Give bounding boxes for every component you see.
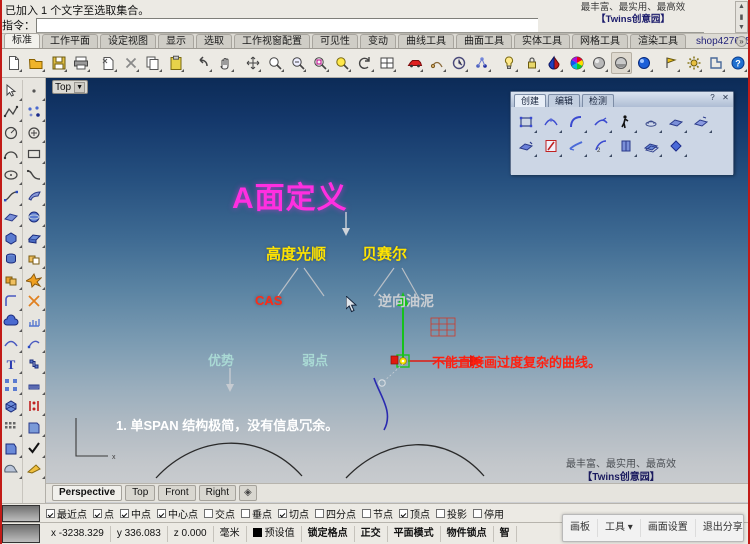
status-z-label: z — [174, 528, 179, 539]
array-icon[interactable] — [1, 374, 22, 395]
status-units: 毫米 — [214, 526, 247, 542]
move-icon[interactable] — [242, 52, 263, 74]
ellipse-icon[interactable] — [1, 164, 22, 185]
checkbox-icon[interactable] — [436, 509, 445, 518]
pan-hand-icon[interactable] — [215, 52, 236, 74]
status-x-label: x — [51, 528, 56, 539]
flyout-corner-icon[interactable] — [303, 69, 306, 72]
annotation-note1: 1. 单SPAN 结构极简，没有信息冗余。 — [116, 415, 338, 434]
osnap-label: 中心点 — [168, 506, 198, 521]
toolbar-tab-0[interactable]: 标准 — [4, 33, 40, 48]
layer-icon[interactable] — [1, 437, 22, 458]
status-x-value: -3238.329 — [59, 528, 104, 539]
mouse-cursor-icon — [346, 296, 358, 314]
flyout-corner-icon[interactable] — [209, 69, 212, 72]
flyout-corner-icon[interactable] — [659, 130, 662, 133]
flyout-corner-icon[interactable] — [582, 69, 585, 72]
share-overlay-item-3[interactable]: 退出分享 — [696, 519, 750, 537]
svg-text:x: x — [112, 454, 116, 461]
osnap-label: 顶点 — [410, 506, 430, 521]
annotation-smooth: 高度光顺 — [266, 243, 326, 264]
render-blue-icon[interactable] — [633, 52, 654, 74]
surface-edge-curves-icon[interactable] — [538, 110, 563, 134]
annotation-advantage: 优势 — [208, 350, 234, 369]
cut-icon[interactable] — [98, 52, 119, 74]
points-on-icon[interactable] — [471, 52, 492, 74]
osnap-4[interactable]: 交点 — [204, 506, 235, 521]
osnap-3[interactable]: 中心点 — [157, 506, 198, 521]
command-area: 已加入 1 个文字至选取集合。 指令： 最丰富、最实用、最高效 【Twins创意… — [0, 0, 750, 34]
osnap-8[interactable]: 节点 — [362, 506, 393, 521]
annotation-cas: CAS — [255, 293, 282, 308]
osnap-label: 节点 — [373, 506, 393, 521]
svg-text:T: T — [7, 357, 16, 372]
main-toolbar: ? — [0, 49, 750, 78]
flyout-corner-icon[interactable] — [488, 69, 491, 72]
checkbox-icon[interactable] — [93, 509, 102, 518]
viewport-layout-icon[interactable] — [377, 52, 398, 74]
curve-edit-icon[interactable] — [24, 332, 45, 353]
annotation-warning: 不能直接画过度复杂的曲线。 — [432, 352, 601, 371]
checkbox-icon[interactable] — [278, 509, 287, 518]
fillet-icon[interactable] — [1, 290, 22, 311]
toolbar-tab-3[interactable]: 显示 — [158, 34, 194, 48]
screen-share-overlay-bar[interactable]: 画板工具 ▾画面设置退出分享 — [562, 514, 744, 542]
viewport-tab-front[interactable]: Front — [158, 485, 195, 501]
left-toolbar-column-a: T — [0, 80, 22, 503]
zoom-window-icon[interactable] — [264, 52, 285, 74]
layer-color-swatch[interactable] — [253, 528, 262, 537]
zoom-selected-icon[interactable] — [309, 52, 330, 74]
status-toggle-2[interactable]: 平面模式 — [388, 526, 441, 542]
status-x-coordinate: x -3238.329 — [45, 526, 111, 542]
sweep2-icon[interactable]: 2 — [588, 134, 613, 158]
flyout-corner-icon[interactable] — [584, 154, 587, 157]
mesh-icon[interactable] — [1, 395, 22, 416]
flyout-corner-icon[interactable] — [231, 69, 234, 72]
help-icon[interactable]: ? — [728, 52, 749, 74]
status-toggle-0[interactable]: 锁定格点 — [302, 526, 355, 542]
planar-surface-icon[interactable] — [663, 110, 688, 134]
toolbar-tab-8[interactable]: 曲线工具 — [398, 34, 454, 48]
share-border-left — [0, 0, 2, 544]
status-layer[interactable]: 预设值 — [247, 526, 302, 542]
osnap-2[interactable]: 中点 — [120, 506, 151, 521]
delete-icon[interactable] — [120, 52, 141, 74]
toolbar-tab-2[interactable]: 设定视图 — [100, 34, 156, 48]
svg-text:?: ? — [736, 59, 742, 69]
cloud-icon[interactable] — [1, 311, 22, 332]
annotation-bezier: 贝赛尔 — [362, 243, 407, 264]
left-toolbar-column-b — [22, 80, 45, 503]
undo-icon[interactable] — [192, 52, 213, 74]
curve-tools-icon[interactable] — [1, 332, 22, 353]
color-drop-icon[interactable] — [543, 52, 564, 74]
circle-center-icon[interactable] — [24, 122, 45, 143]
rotate-view-icon[interactable] — [354, 52, 375, 74]
flyout-corner-icon[interactable] — [609, 130, 612, 133]
floating-panel-window-buttons: ? ✕ — [705, 93, 731, 104]
osnap-label: 最近点 — [57, 506, 87, 521]
share-thumbnail-preview — [2, 505, 40, 522]
color-wheel-icon[interactable] — [566, 52, 587, 74]
box-solid-icon[interactable] — [1, 227, 22, 248]
status-y-coordinate: y 336.083 — [111, 526, 168, 542]
flyout-corner-icon[interactable] — [634, 154, 637, 157]
flyout-corner-icon[interactable] — [87, 69, 90, 72]
status-toggle-3[interactable]: 物件锁点 — [441, 526, 494, 542]
flyout-corner-icon[interactable] — [722, 69, 725, 72]
float-panel-tab-1[interactable]: 编辑 — [548, 94, 580, 107]
loft-book-icon[interactable] — [613, 134, 638, 158]
offset-surface-icon[interactable] — [638, 134, 663, 158]
light-bulb-icon[interactable] — [498, 52, 519, 74]
layout-icon[interactable] — [705, 52, 726, 74]
scroll-thumb-icon[interactable]: ▮ — [736, 13, 747, 22]
help-icon[interactable]: ? — [707, 93, 718, 104]
viewport-tab-perspective[interactable]: Perspective — [52, 485, 122, 501]
toolbar-tab-11[interactable]: 网格工具 — [572, 34, 628, 48]
render-material-icon[interactable] — [1, 458, 22, 479]
flyout-corner-icon[interactable] — [634, 130, 637, 133]
osnap-label: 点 — [104, 506, 114, 521]
osnap-label: 四分点 — [326, 506, 356, 521]
scroll-down-icon[interactable]: ▼ — [736, 23, 747, 32]
toolbar-tab-10[interactable]: 实体工具 — [514, 34, 570, 48]
status-toggle-4[interactable]: 智 — [494, 526, 517, 542]
osnap-label: 垂点 — [252, 506, 272, 521]
osnap-label: 停用 — [484, 506, 504, 521]
viewport-name-label[interactable]: Top ▼ — [52, 80, 88, 94]
surface-tools-floating-panel[interactable]: 创建编辑检测 ? ✕ 2 — [510, 91, 734, 175]
floating-panel-titlebar[interactable]: 创建编辑检测 ? ✕ — [511, 92, 733, 107]
status-toggle-1[interactable]: 正交 — [355, 526, 388, 542]
history-icon[interactable] — [449, 52, 470, 74]
command-prompt-label: 指令： — [2, 17, 36, 33]
arc-icon[interactable] — [1, 143, 22, 164]
flyout-corner-icon[interactable] — [42, 69, 45, 72]
control-point-curve-icon[interactable] — [1, 185, 22, 206]
zoom-dynamic-icon[interactable] — [332, 52, 353, 74]
gear-icon[interactable] — [683, 52, 704, 74]
new-file-icon[interactable] — [3, 52, 24, 74]
flag-icon[interactable] — [660, 52, 681, 74]
flyout-corner-icon[interactable] — [605, 69, 608, 72]
analyze-points-icon[interactable] — [24, 311, 45, 332]
checkbox-icon[interactable] — [315, 509, 324, 518]
command-history: 已加入 1 个文字至选取集合。 — [2, 1, 702, 16]
add-viewport-button[interactable]: ◈ — [239, 485, 257, 501]
save-file-icon[interactable] — [48, 52, 69, 74]
viewport-tab-right[interactable]: Right — [199, 485, 236, 501]
checkbox-icon[interactable] — [241, 509, 250, 518]
surface-corner-points-icon[interactable] — [513, 110, 538, 134]
circle-icon[interactable] — [1, 122, 22, 143]
share-overlay-item-0[interactable]: 画板 — [563, 519, 598, 537]
share-overlay-item-1[interactable]: 工具 ▾ — [598, 519, 641, 537]
scroll-up-icon[interactable]: ▲ — [736, 2, 747, 11]
rhino-application-window: 已加入 1 个文字至选取集合。 指令： 最丰富、最实用、最高效 【Twins创意… — [0, 0, 750, 544]
flyout-corner-icon[interactable] — [699, 69, 702, 72]
trim-surface-icon[interactable] — [538, 134, 563, 158]
car-render-icon[interactable] — [404, 52, 425, 74]
flyout-corner-icon[interactable] — [42, 476, 45, 479]
flyout-corner-icon[interactable] — [744, 69, 747, 72]
toolbar-tab-12[interactable]: 渲染工具 — [630, 34, 686, 48]
boolean-difference-icon[interactable] — [24, 248, 45, 269]
zoom-extents-icon[interactable] — [287, 52, 308, 74]
toolbar-tab-6[interactable]: 可见性 — [312, 34, 358, 48]
toolbar-tab-1[interactable]: 工作平面 — [42, 34, 98, 48]
surface-from-curves-icon[interactable] — [1, 206, 22, 227]
osnap-label: 交点 — [215, 506, 235, 521]
dimension-icon[interactable] — [1, 416, 22, 437]
toolbar-tab-4[interactable]: 选取 — [196, 34, 232, 48]
osnap-5[interactable]: 垂点 — [241, 506, 272, 521]
shade-gray-icon[interactable] — [588, 52, 609, 74]
osnap-label: 中点 — [131, 506, 151, 521]
checkbox-icon[interactable] — [473, 509, 482, 518]
checkbox-icon[interactable] — [204, 509, 213, 518]
blend-surface-icon[interactable] — [563, 134, 588, 158]
split-icon[interactable] — [24, 290, 45, 311]
status-layer-name: 预设值 — [265, 528, 295, 539]
float-panel-tab-0[interactable]: 创建 — [514, 94, 546, 107]
close-icon[interactable]: ✕ — [720, 93, 731, 104]
viewport-name-text: Top — [55, 82, 71, 93]
explode-icon[interactable] — [24, 269, 45, 290]
osnap-0[interactable]: 最近点 — [46, 506, 87, 521]
command-prompt-row: 指令： — [2, 17, 704, 33]
osnap-1[interactable]: 点 — [93, 506, 114, 521]
flyout-corner-icon[interactable] — [609, 154, 612, 157]
annotate-icon[interactable] — [24, 416, 45, 437]
flyout-corner-icon[interactable] — [465, 69, 468, 72]
osnap-10[interactable]: 投影 — [436, 506, 467, 521]
sweep1-icon[interactable] — [588, 110, 613, 134]
open-file-icon[interactable] — [25, 52, 46, 74]
flyout-corner-icon[interactable] — [326, 69, 329, 72]
paint-icon[interactable] — [24, 458, 45, 479]
flyout-corner-icon[interactable] — [181, 69, 184, 72]
checkbox-icon[interactable] — [399, 509, 408, 518]
command-input[interactable] — [36, 18, 704, 33]
float-panel-tab-2[interactable]: 检测 — [582, 94, 614, 107]
copy-icon[interactable] — [142, 52, 163, 74]
toolbar-tab-strip: 标准工作平面设定视图显示选取工作视窗配置可见性变动曲线工具曲面工具实体工具网格工… — [0, 34, 750, 49]
polyline-icon[interactable] — [1, 101, 22, 122]
select-arrow-icon[interactable] — [1, 80, 22, 101]
flyout-corner-icon[interactable] — [559, 130, 562, 133]
flyout-corner-icon[interactable] — [348, 69, 351, 72]
osnap-label: 切点 — [289, 506, 309, 521]
flyout-corner-icon[interactable] — [159, 69, 162, 72]
flyout-corner-icon[interactable] — [537, 69, 540, 72]
flyout-corner-icon[interactable] — [281, 69, 284, 72]
viewport-tab-bar: PerspectiveTopFrontRight◈ — [46, 483, 750, 502]
checkbox-icon[interactable] — [120, 509, 129, 518]
osnap-label: 投影 — [447, 506, 467, 521]
flyout-corner-icon[interactable] — [258, 69, 261, 72]
shade-gray2-icon[interactable] — [611, 52, 632, 74]
flyout-corner-icon[interactable] — [114, 69, 117, 72]
flyout-corner-icon[interactable] — [560, 69, 563, 72]
flyout-corner-icon[interactable] — [650, 69, 653, 72]
check-icon[interactable] — [24, 437, 45, 458]
status-z-value: 0.000 — [182, 528, 207, 539]
checkbox-icon[interactable] — [157, 509, 166, 518]
flyout-corner-icon[interactable] — [420, 69, 423, 72]
annotation-reverse-clay: 逆向油泥 — [378, 291, 434, 311]
flyout-corner-icon[interactable] — [534, 130, 537, 133]
checkbox-icon[interactable] — [46, 509, 55, 518]
flyout-corner-icon[interactable] — [64, 69, 67, 72]
analyze-icon[interactable] — [426, 52, 447, 74]
flyout-corner-icon[interactable] — [393, 69, 396, 72]
cylinder-icon[interactable] — [1, 248, 22, 269]
flyout-corner-icon[interactable] — [677, 69, 680, 72]
boolean-union-icon[interactable] — [1, 269, 22, 290]
osnap-9[interactable]: 顶点 — [399, 506, 430, 521]
scale-icon[interactable] — [24, 374, 45, 395]
floating-panel-body: 2 — [511, 107, 733, 175]
osnap-11[interactable]: 停用 — [473, 506, 504, 521]
toolbar-tab-7[interactable]: 变动 — [360, 34, 396, 48]
status-z-coordinate: z 0.000 — [168, 526, 214, 542]
blend-icon[interactable] — [24, 395, 45, 416]
point-cloud-icon[interactable] — [24, 101, 45, 122]
share-overlay-item-2[interactable]: 画面设置 — [641, 519, 696, 537]
status-thumbnail-preview — [2, 524, 40, 543]
flyout-corner-icon[interactable] — [443, 69, 446, 72]
left-toolbar: T — [0, 78, 46, 503]
flyout-corner-icon[interactable] — [684, 154, 687, 157]
patch-surface-icon[interactable] — [688, 110, 713, 134]
text-icon[interactable]: T — [1, 353, 22, 374]
person-walk-icon[interactable] — [613, 110, 638, 134]
freeform-curve-icon[interactable] — [24, 164, 45, 185]
match-surface-icon[interactable] — [663, 134, 688, 158]
toolbar-tab-5[interactable]: 工作视窗配置 — [234, 34, 310, 48]
toolbar-tab-9[interactable]: 曲面工具 — [456, 34, 512, 48]
transform-icon[interactable] — [24, 353, 45, 374]
point-icon[interactable] — [24, 80, 45, 101]
command-scrollbar[interactable]: ▲ ▮ ▼ — [735, 1, 748, 33]
annotation-weakness: 弱点 — [302, 350, 328, 369]
lock-icon[interactable] — [521, 52, 542, 74]
flyout-corner-icon[interactable] — [515, 69, 518, 72]
osnap-7[interactable]: 四分点 — [315, 506, 356, 521]
flyout-corner-icon[interactable] — [534, 154, 537, 157]
flyout-corner-icon[interactable] — [684, 130, 687, 133]
chevron-down-icon[interactable]: ▼ — [74, 82, 85, 93]
status-y-value: 336.083 — [125, 528, 161, 539]
flyout-corner-icon[interactable] — [627, 69, 630, 72]
loft-surface-icon[interactable] — [24, 185, 45, 206]
extrude-icon[interactable] — [24, 227, 45, 248]
print-icon[interactable] — [70, 52, 91, 74]
svg-text:2: 2 — [597, 148, 601, 154]
viewport-tab-top[interactable]: Top — [125, 485, 155, 501]
toolbar-tabs-overflow-button[interactable]: » — [736, 36, 747, 47]
curve-network-icon[interactable] — [563, 110, 588, 134]
extrude-surface-icon[interactable] — [513, 134, 538, 158]
annotation-title: A面定义 — [232, 173, 348, 217]
revolve-icon[interactable] — [638, 110, 663, 134]
sphere-icon[interactable] — [24, 206, 45, 227]
flyout-corner-icon[interactable] — [559, 154, 562, 157]
flyout-corner-icon[interactable] — [19, 69, 22, 72]
flyout-corner-icon[interactable] — [19, 476, 22, 479]
flyout-corner-icon[interactable] — [709, 130, 712, 133]
flyout-corner-icon[interactable] — [659, 154, 662, 157]
osnap-6[interactable]: 切点 — [278, 506, 309, 521]
paste-icon[interactable] — [165, 52, 186, 74]
flyout-corner-icon[interactable] — [584, 130, 587, 133]
status-y-label: y — [117, 528, 122, 539]
rectangle-icon[interactable] — [24, 143, 45, 164]
flyout-corner-icon[interactable] — [136, 69, 139, 72]
flyout-corner-icon[interactable] — [371, 69, 374, 72]
checkbox-icon[interactable] — [362, 509, 371, 518]
